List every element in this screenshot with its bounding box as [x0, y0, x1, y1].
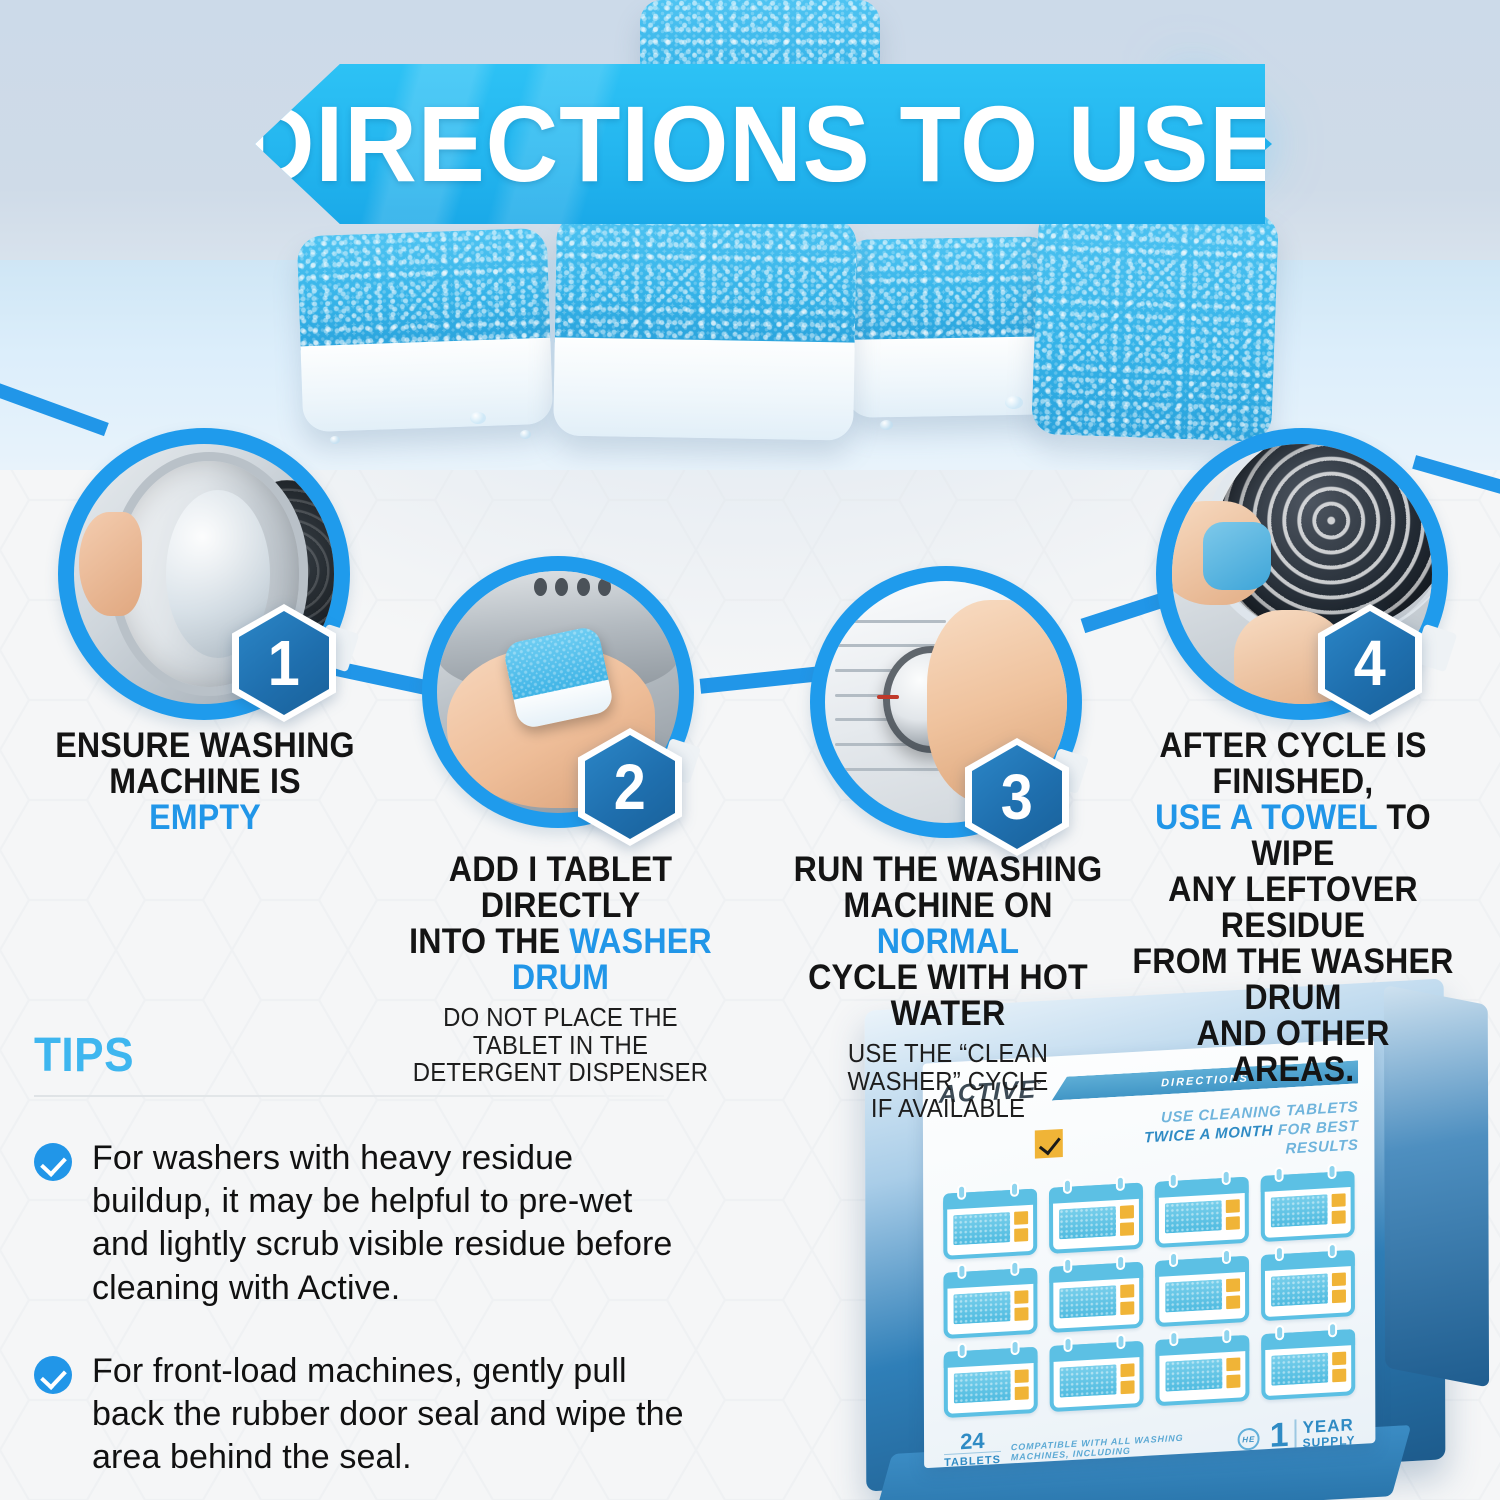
- check-circle-icon: [34, 1143, 72, 1181]
- directions-to-use-infographic: DIRECTIONS TO USE 1 ENSURE WASHING: [0, 0, 1500, 1500]
- step-4-badge: 4: [1318, 604, 1422, 722]
- tips-divider: [34, 1095, 664, 1097]
- caption-line-5: AND OTHER AREAS.: [1132, 1016, 1454, 1088]
- caption-highlight: EMPTY: [149, 798, 261, 837]
- caption-line-1: ENSURE WASHING: [53, 728, 357, 764]
- step-2-badge: 2: [578, 728, 682, 846]
- step-3-badge: 3: [965, 738, 1069, 856]
- towel-icon: [1203, 522, 1271, 590]
- tip-text: For front-load machines, gently pull bac…: [92, 1350, 692, 1480]
- caption-line-3: ANY LEFTOVER RESIDUE: [1132, 872, 1454, 944]
- step-number: 4: [1354, 631, 1386, 695]
- caption-highlight: NORMAL: [877, 922, 1019, 961]
- tips-heading: TIPS: [34, 1028, 660, 1083]
- check-circle-icon: [34, 1356, 72, 1394]
- caption-line-3: CYCLE WITH HOT WATER: [792, 960, 1105, 1032]
- tip-item: For front-load machines, gently pull bac…: [34, 1350, 714, 1480]
- caption-line-4: FROM THE WASHER DRUM: [1132, 944, 1454, 1016]
- caption-line-2-plain: MACHINE IS: [109, 762, 300, 801]
- caption-line-2-plain: MACHINE ON: [843, 886, 1052, 925]
- tips-section: TIPS For washers with heavy residue buil…: [34, 1028, 714, 1479]
- tip-text: For washers with heavy residue buildup, …: [92, 1137, 692, 1310]
- drum-holes: [534, 578, 616, 600]
- hand-icon: [79, 512, 141, 616]
- step-1-badge: 1: [232, 604, 336, 722]
- subcaption-line-1: USE THE “CLEAN WASHER” CYCLE: [792, 1040, 1105, 1095]
- step-number: 2: [614, 755, 646, 819]
- step-number: 1: [268, 631, 300, 695]
- caption-line-1: AFTER CYCLE IS FINISHED,: [1132, 728, 1454, 800]
- step-3-caption: RUN THE WASHING MACHINE ON NORMAL CYCLE …: [778, 852, 1118, 1123]
- step-1-caption: ENSURE WASHING MACHINE IS EMPTY: [40, 728, 370, 836]
- step-4-caption: AFTER CYCLE IS FINISHED, USE A TOWEL TO …: [1118, 728, 1468, 1088]
- tip-item: For washers with heavy residue buildup, …: [34, 1137, 714, 1310]
- caption-highlight: USE A TOWEL: [1155, 798, 1377, 837]
- page-title-banner: DIRECTIONS TO USE: [255, 64, 1265, 224]
- step-number: 3: [1001, 765, 1033, 829]
- caption-line-1: RUN THE WASHING: [792, 852, 1105, 888]
- caption-line-1: ADD I TABLET DIRECTLY: [397, 852, 724, 924]
- subcaption-line-2: IF AVAILABLE: [792, 1095, 1105, 1123]
- page-title: DIRECTIONS TO USE: [242, 90, 1277, 198]
- caption-line-2-plain: INTO THE: [409, 922, 569, 961]
